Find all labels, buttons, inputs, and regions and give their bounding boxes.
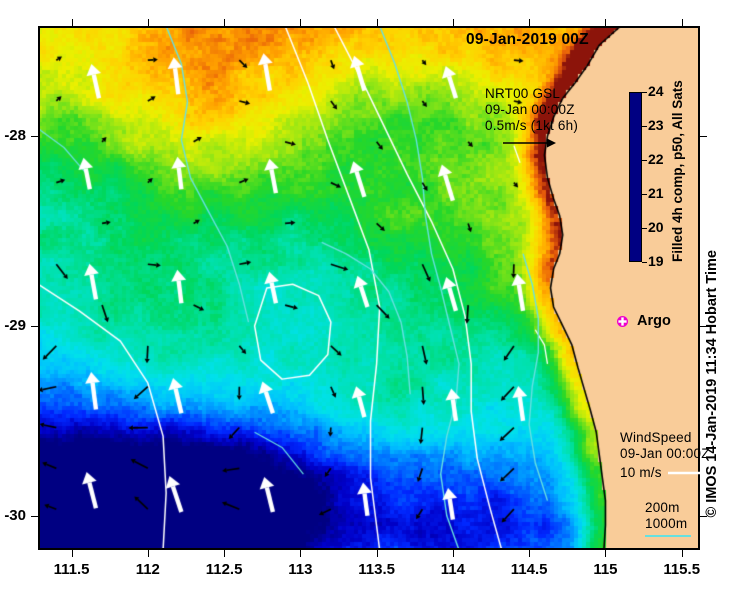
- y-axis-label: -29: [0, 317, 26, 334]
- x-tick-top: [148, 19, 149, 26]
- y-tick-right: [700, 516, 707, 517]
- x-tick-top: [300, 19, 301, 26]
- x-tick: [148, 550, 149, 557]
- current-legend-line3: 0.5m/s (1kt 6h): [485, 118, 578, 134]
- colorbar-tick-label: 20: [648, 219, 664, 235]
- x-tick: [224, 550, 225, 557]
- x-tick-top: [605, 19, 606, 26]
- argo-legend-label: Argo: [637, 313, 671, 329]
- x-axis-label: 114.5: [499, 561, 559, 578]
- x-axis-label: 112.5: [194, 561, 254, 578]
- x-axis-label: 113.5: [347, 561, 407, 578]
- y-tick: [31, 516, 38, 517]
- depth-legend-1000m: 1000m: [645, 516, 691, 532]
- x-tick-top: [72, 19, 73, 26]
- current-scale-arrow-icon: [503, 136, 563, 150]
- colorbar-title: Filled 4h comp, p50, All Sats: [670, 80, 739, 262]
- argo-marker-icon: [616, 315, 629, 328]
- x-tick: [529, 550, 530, 557]
- x-tick-top: [453, 19, 454, 26]
- colorbar-tick-label: 22: [648, 151, 664, 167]
- x-axis-label: 113: [270, 561, 330, 578]
- sst-map-figure: 09-Jan-2019 00Z NRT00 GSL 09-Jan 00:00Z …: [0, 0, 739, 592]
- colorbar-tick-label: 21: [648, 185, 664, 201]
- colorbar: [629, 92, 642, 262]
- x-axis-label: 111.5: [42, 561, 102, 578]
- x-tick: [377, 550, 378, 557]
- x-axis-label: 112: [118, 561, 178, 578]
- colorbar-tick-label: 23: [648, 117, 664, 133]
- x-tick: [72, 550, 73, 557]
- page-title: 09-Jan-2019 00Z: [466, 31, 589, 49]
- x-tick: [453, 550, 454, 557]
- x-tick-top: [224, 19, 225, 26]
- argo-legend: Argo: [616, 313, 671, 329]
- y-axis-label: -30: [0, 507, 26, 524]
- x-tick: [300, 550, 301, 557]
- y-tick-right: [700, 326, 707, 327]
- colorbar-tick-label: 24: [648, 83, 664, 99]
- x-tick-top: [529, 19, 530, 26]
- copyright-text: © IMOS 14-Jan-2019 11:34 Hobart Time: [704, 250, 720, 518]
- y-axis-label: -28: [0, 127, 26, 144]
- depth-legend-200m: 200m: [645, 500, 691, 516]
- depth-legend: 200m 1000m: [645, 500, 691, 539]
- depth-1000m-line-swatch: [645, 533, 691, 539]
- x-tick-top: [682, 19, 683, 26]
- colorbar-tick-label: 19: [648, 253, 664, 269]
- x-tick-top: [377, 19, 378, 26]
- wind-legend-line3: 10 m/s: [620, 465, 662, 481]
- x-tick: [682, 550, 683, 557]
- y-tick: [31, 326, 38, 327]
- x-axis-label: 115: [575, 561, 635, 578]
- vector-overlay-layer: [38, 26, 700, 550]
- current-legend-line2: 09-Jan 00:00Z: [485, 102, 578, 118]
- current-legend-line1: NRT00 GSL: [485, 86, 578, 102]
- y-tick-right: [700, 136, 707, 137]
- current-legend: NRT00 GSL 09-Jan 00:00Z 0.5m/s (1kt 6h): [485, 86, 578, 150]
- map-plot-area[interactable]: [38, 26, 700, 550]
- x-axis-label: 115.5: [652, 561, 712, 578]
- x-tick: [605, 550, 606, 557]
- x-axis-label: 114: [423, 561, 483, 578]
- y-tick: [31, 136, 38, 137]
